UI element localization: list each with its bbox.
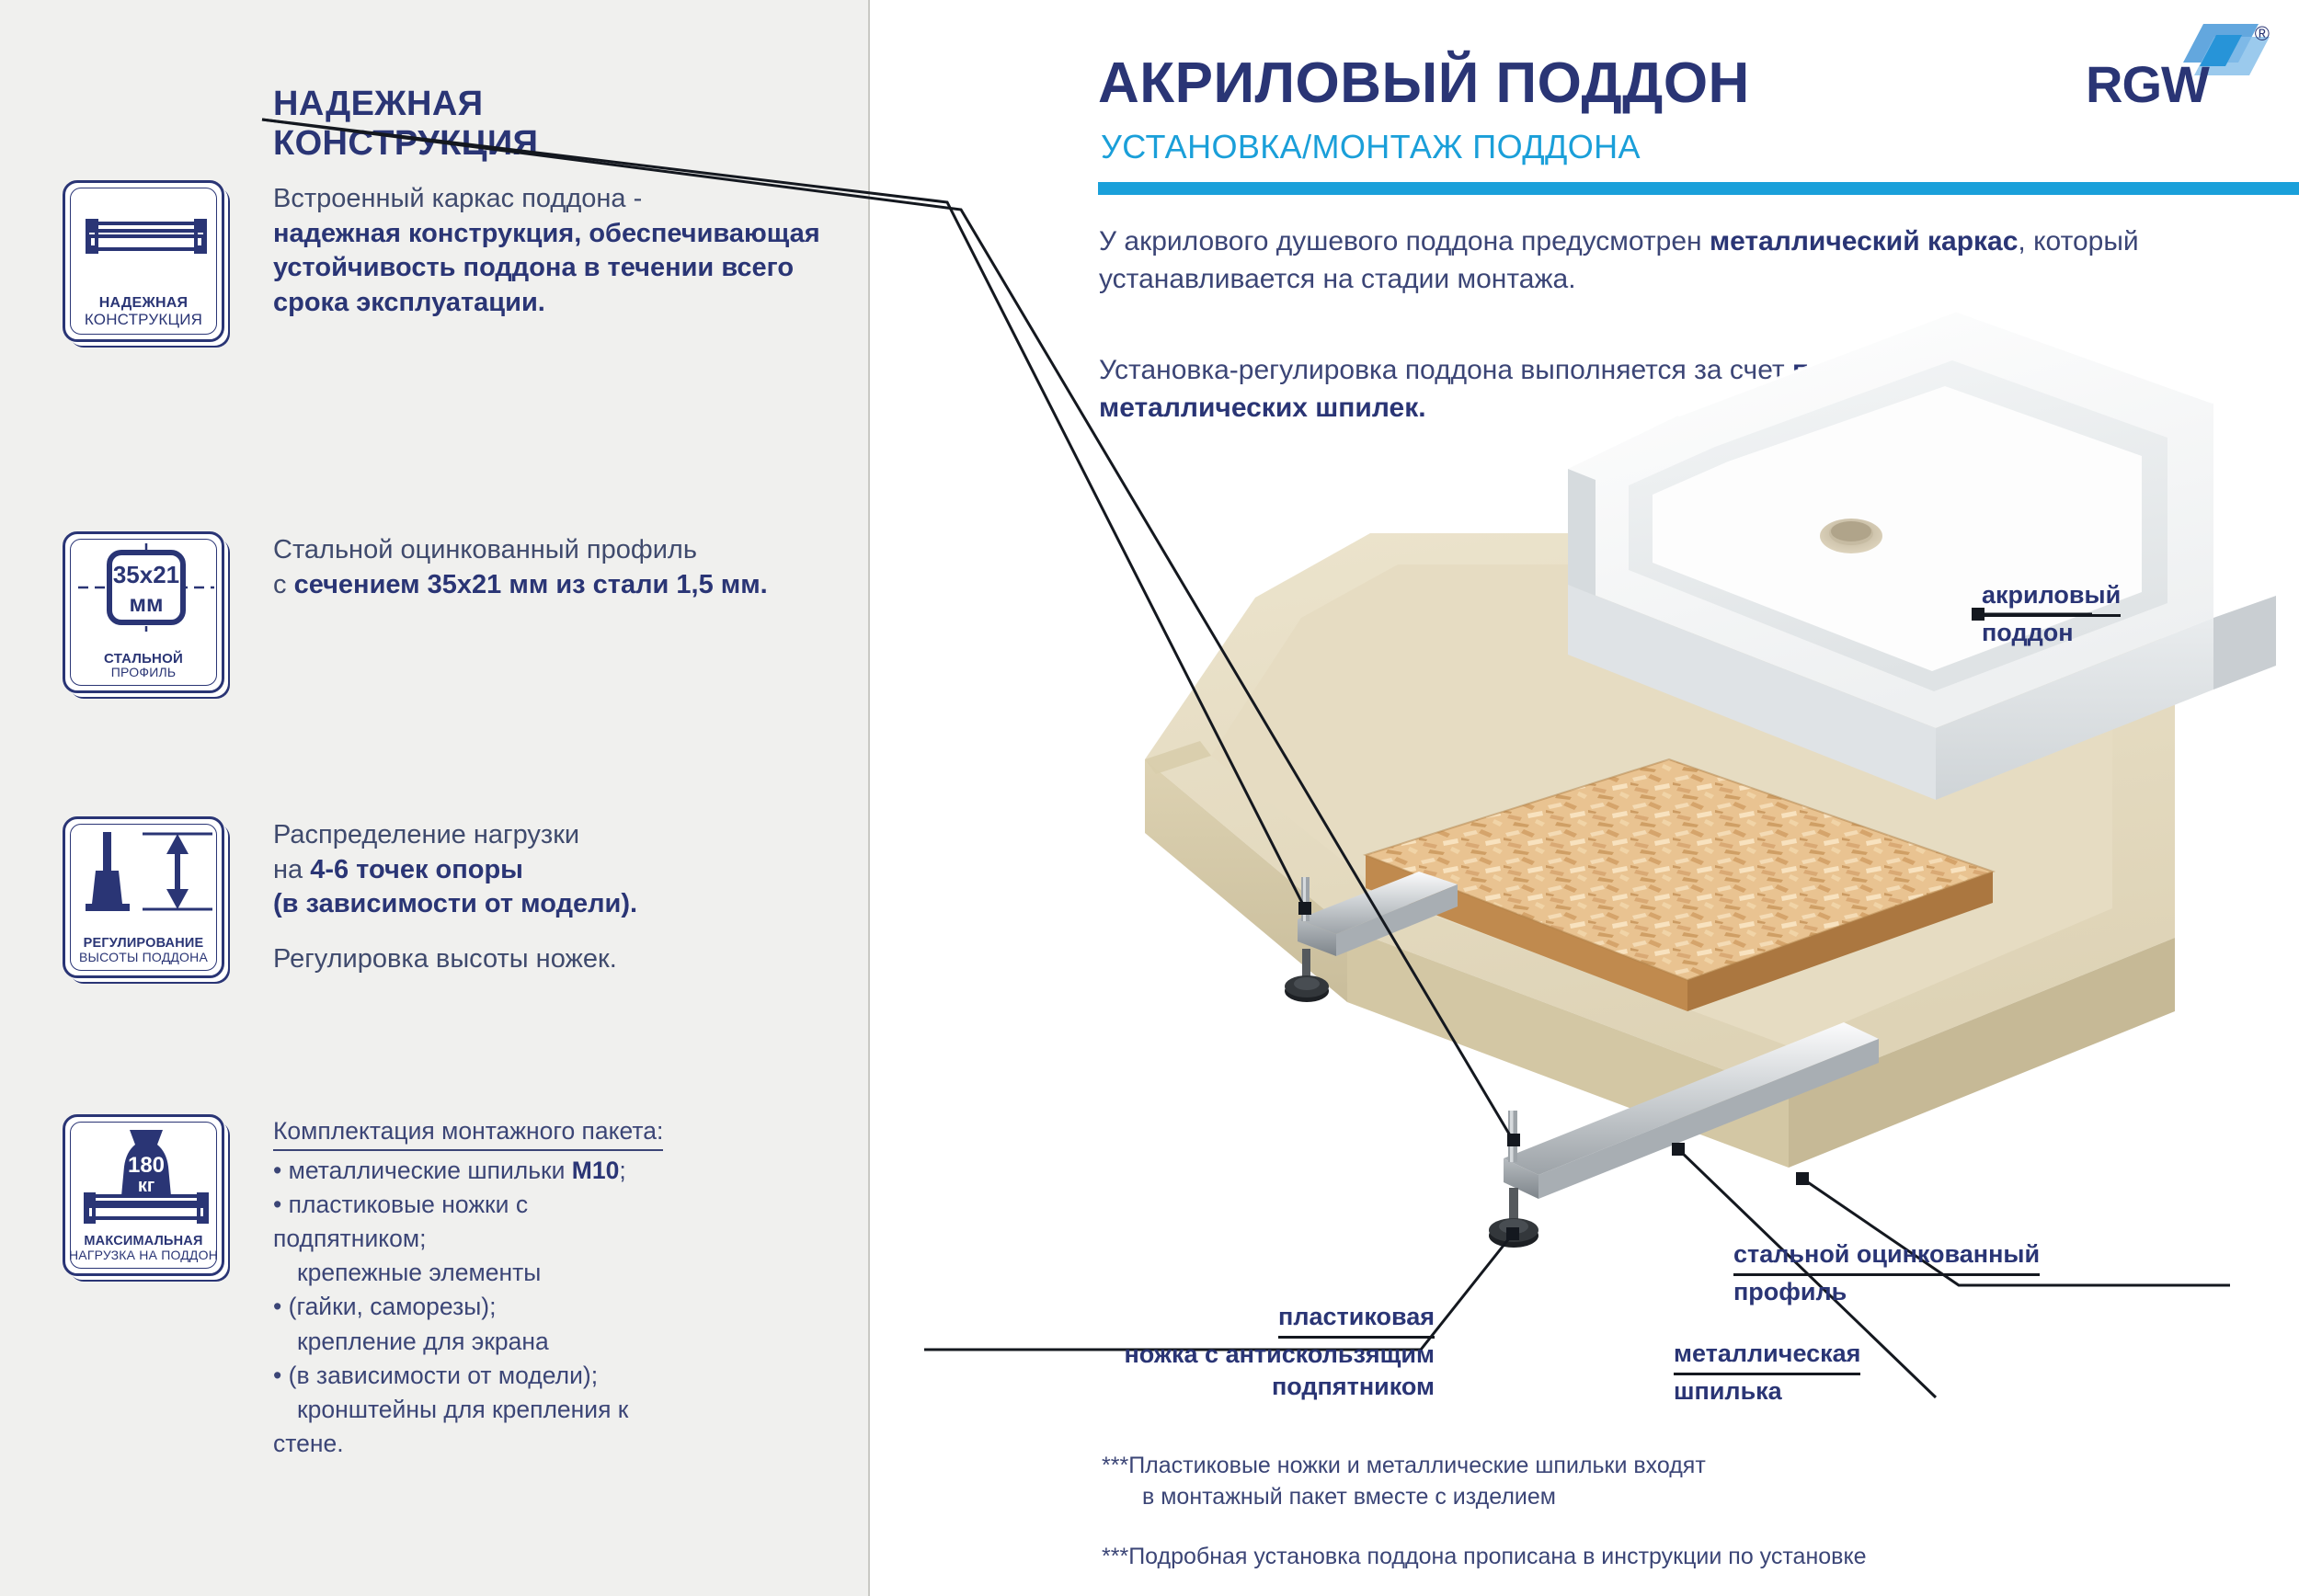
steel-profile-section-icon: 35x21 мм — [65, 541, 222, 630]
icon-caption-line2: НАГРУЗКА НА ПОДДОН — [65, 1248, 222, 1262]
infographic-page: НАДЕЖНАЯ КОНСТРУКЦИЯ НАДЕЖНАЯ К — [0, 0, 2299, 1596]
list-item-continuation: крепление для экрана — [273, 1325, 843, 1359]
feature-3-regular: Распределение нагрузки — [273, 820, 579, 849]
accent-bar — [1098, 182, 2299, 195]
list-item-continuation: подпятником; — [273, 1222, 843, 1256]
paragraph-1-part1: У акрилового душевого поддона предусмотр… — [1099, 226, 1710, 256]
footnote-marker: *** — [1102, 1544, 1128, 1569]
bullet: • — [273, 1191, 281, 1218]
feature-3-prefix: на — [273, 855, 310, 884]
height-adjustment-icon — [65, 826, 222, 915]
steel-profile-icon-caption: СТАЛЬНОЙ ПРОФИЛЬ — [65, 652, 222, 679]
footnote-1: ***Пластиковые ножки и металлические шпи… — [1102, 1451, 2251, 1513]
feature-3-extra: Регулировка высоты ножек. — [273, 944, 617, 974]
intro-paragraph-1: У акрилового душевого поддона предусмотр… — [1099, 223, 2248, 299]
page-title: АКРИЛОВЫЙ ПОДДОН — [1098, 51, 1750, 116]
max-load-weight-icon: 180 кг — [65, 1124, 222, 1213]
bullet: • — [273, 1293, 281, 1320]
footnote-2: ***Подробная установка поддона прописана… — [1102, 1542, 2279, 1573]
intro-paragraph-2: Установка-регулировка поддона выполняетс… — [1099, 352, 2248, 427]
sidebar-heading: НАДЕЖНАЯ КОНСТРУКЦИЯ — [273, 85, 788, 163]
max-load-icon-caption: МАКСИМАЛЬНАЯ НАГРУЗКА НА ПОДДОН — [65, 1235, 222, 1262]
icon-caption-line1: СТАЛЬНОЙ — [65, 652, 222, 667]
list-item-suffix: ; — [619, 1157, 625, 1184]
feature-2-bold: сечением 35x21 мм из стали 1,5 мм. — [294, 570, 768, 599]
icon-caption-line1: НАДЕЖНАЯ — [65, 296, 222, 312]
package-contents-list: Комплектация монтажного пакета: • металл… — [273, 1114, 843, 1461]
bullet: • — [273, 1157, 281, 1184]
feature-text-steel-profile: Стальной оцинкованный профиль с сечением… — [273, 533, 825, 602]
bullet: • — [273, 1362, 281, 1389]
icon-caption-line2: КОНСТРУКЦИЯ — [65, 312, 222, 328]
sidebar-heading-line1: НАДЕЖНАЯ — [273, 85, 483, 123]
feature-2-regular: Стальной оцинкованный профиль — [273, 535, 697, 564]
callout-profile-line1: стальной оцинкованный — [1733, 1238, 2040, 1276]
callout-profile-line2: профиль — [1733, 1278, 1847, 1305]
feature-text-height-adjustment: Распределение нагрузки на 4-6 точек опор… — [273, 818, 825, 977]
callout-steel-profile: стальной оцинкованный профиль — [1733, 1238, 2175, 1308]
package-contents-title: Комплектация монтажного пакета: — [273, 1114, 663, 1151]
rgw-logo-text: RGW — [2086, 54, 2209, 114]
height-adjustment-icon-caption: РЕГУЛИРОВАНИЕ ВЫСОТЫ ПОДДОНА — [65, 937, 222, 964]
list-item-text: металлические шпильки — [289, 1157, 572, 1184]
frame-rail-icon-box: НАДЕЖНАЯ КОНСТРУКЦИЯ — [63, 180, 224, 342]
footnote-line1: Подробная установка поддона прописана в … — [1128, 1544, 1866, 1569]
list-item-text: (гайки, саморезы); — [289, 1293, 497, 1320]
footnote-line1: Пластиковые ножки и металлические шпильк… — [1128, 1453, 1706, 1478]
feature-3-bold2: (в зависимости от модели). — [273, 889, 637, 918]
frame-rail-icon-caption: НАДЕЖНАЯ КОНСТРУКЦИЯ — [65, 296, 222, 328]
page-subtitle: УСТАНОВКА/МОНТАЖ ПОДДОНА — [1101, 128, 1641, 166]
callout-tray-line2: поддон — [1982, 619, 2074, 646]
registered-trademark-icon: ® — [2255, 22, 2270, 46]
list-item-bold: M10 — [572, 1157, 620, 1184]
icon-caption-line2: ВЫСОТЫ ПОДДОНА — [65, 951, 222, 964]
icon-caption-line1: МАКСИМАЛЬНАЯ — [65, 1235, 222, 1248]
callout-leg-line1: пластиковая — [1278, 1301, 1435, 1339]
footnote-marker: *** — [1102, 1453, 1128, 1478]
sidebar-heading-line2: КОНСТРУКЦИЯ — [273, 124, 538, 163]
list-item: • пластиковые ножки с — [273, 1188, 843, 1222]
list-item: • металлические шпильки M10; — [273, 1154, 843, 1188]
frame-rail-icon — [65, 190, 222, 279]
callout-stud-line1: металлическая — [1674, 1338, 1860, 1375]
profile-section-value: 35x21 — [113, 561, 179, 588]
callout-plastic-leg: пластиковая ножка с антискользящим подпя… — [920, 1301, 1435, 1404]
feature-2-prefix: с — [273, 570, 294, 599]
list-item-continuation: стене. — [273, 1427, 843, 1461]
callout-acrylic-tray: акриловый поддон — [1982, 579, 2221, 649]
callout-stud-line2: шпилька — [1674, 1377, 1782, 1405]
footnote-line2: в монтажный пакет вместе с изделием — [1102, 1482, 2251, 1513]
callout-metal-stud: металлическая шпилька — [1674, 1338, 1968, 1408]
feature-3-bold: 4-6 точек опоры — [310, 855, 523, 884]
callout-leg-line2: ножка с антискользящим — [1124, 1340, 1435, 1368]
rgw-logo: RGW ® — [2086, 17, 2270, 123]
max-load-unit: кг — [138, 1176, 154, 1196]
icon-caption-line2: ПРОФИЛЬ — [65, 666, 222, 679]
paragraph-2-part1: Установка-регулировка поддона выполняетс… — [1099, 355, 1792, 385]
icon-caption-line1: РЕГУЛИРОВАНИЕ — [65, 937, 222, 951]
list-item: • (гайки, саморезы); — [273, 1290, 843, 1324]
list-item-text: (в зависимости от модели); — [289, 1362, 598, 1389]
callout-tray-line1: акриловый — [1982, 579, 2121, 617]
list-item-text: пластиковые ножки с — [289, 1191, 528, 1218]
max-load-icon-box: 180 кг МАКСИМАЛЬНАЯ НАГРУЗКА НА ПОДДОН — [63, 1114, 224, 1276]
feature-1-bold: надежная конструкция, обеспечивающая уст… — [273, 219, 820, 317]
list-item-continuation: крепежные элементы — [273, 1256, 843, 1290]
max-load-value: 180 — [128, 1153, 165, 1178]
profile-section-unit: мм — [130, 591, 164, 617]
feature-text-reliable-construction: Встроенный каркас поддона - надежная кон… — [273, 182, 825, 321]
list-item: • (в зависимости от модели); — [273, 1359, 843, 1393]
steel-profile-icon-box: 35x21 мм СТАЛЬНОЙ ПРОФИЛЬ — [63, 531, 224, 693]
height-adjustment-icon-box: РЕГУЛИРОВАНИЕ ВЫСОТЫ ПОДДОНА — [63, 816, 224, 978]
list-item-continuation: кронштейны для крепления к — [273, 1393, 843, 1427]
callout-leg-line3: подпятником — [1272, 1373, 1435, 1400]
paragraph-1-bold1: металлический каркас — [1710, 226, 2018, 256]
feature-1-regular: Встроенный каркас поддона - — [273, 184, 642, 213]
